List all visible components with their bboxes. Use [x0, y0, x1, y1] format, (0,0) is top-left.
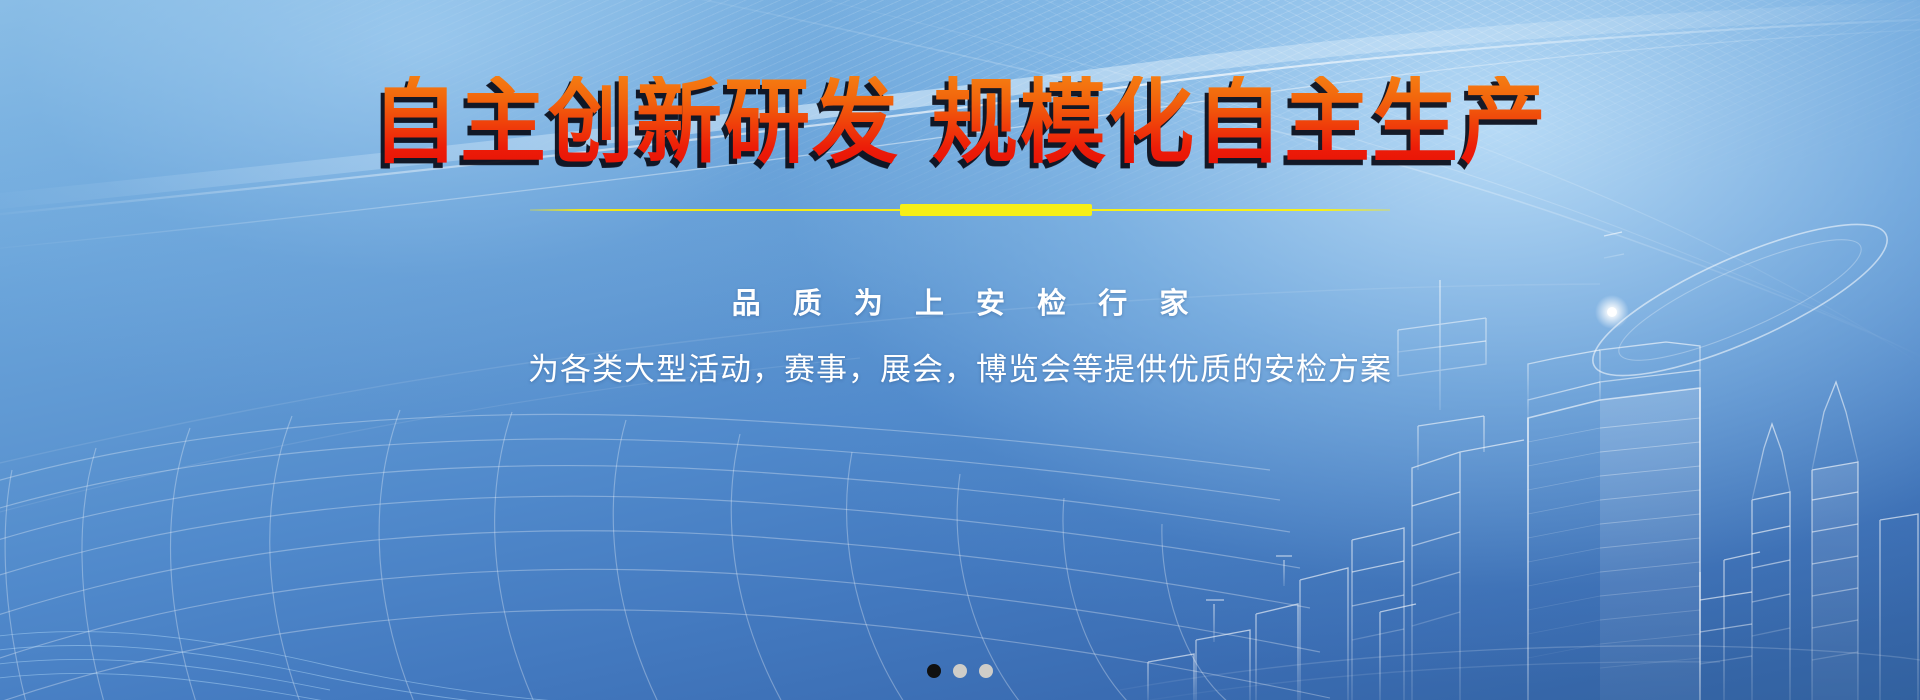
banner-headline: 自主创新研发 规模化自主生产	[372, 76, 1548, 169]
carousel-indicators[interactable]	[0, 664, 1920, 678]
divider-thick-bar	[900, 204, 1092, 216]
decorative-divider	[530, 204, 1390, 216]
carousel-dot-2[interactable]	[953, 664, 967, 678]
hero-banner: 自主创新研发 规模化自主生产 品 质 为 上 安 检 行 家 为各类大型活动，赛…	[0, 0, 1920, 700]
banner-description: 为各类大型活动，赛事，展会，博览会等提供优质的安检方案	[528, 344, 1392, 389]
carousel-dot-1[interactable]	[927, 664, 941, 678]
carousel-dot-3[interactable]	[979, 664, 993, 678]
banner-tagline: 品 质 为 上 安 检 行 家	[721, 280, 1200, 322]
banner-content: 自主创新研发 规模化自主生产 品 质 为 上 安 检 行 家 为各类大型活动，赛…	[0, 0, 1920, 700]
